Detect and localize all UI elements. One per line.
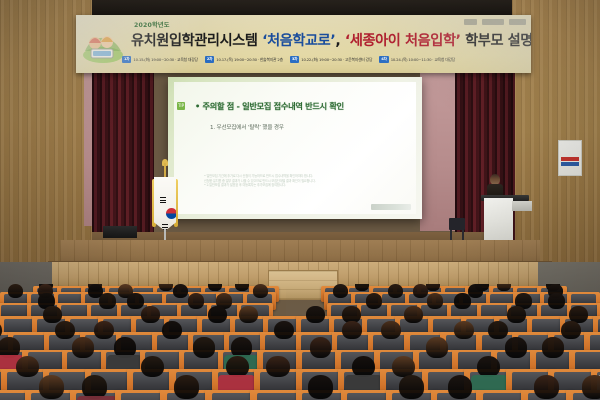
audience-member-head xyxy=(208,284,222,291)
audience-member-head xyxy=(333,284,348,298)
audience-member-head xyxy=(94,321,114,340)
banner-title-segment-1: ‘처음학교로’ xyxy=(262,33,335,49)
banner-title: 유치원입학관리시스템 ‘처음학교로’, ‘세종아이 처음입학’ 학부모 설명회 xyxy=(131,29,531,53)
audience-member-shoulders xyxy=(77,396,117,400)
flag-cloth xyxy=(154,177,176,231)
slide-tip-marker: TIP xyxy=(177,102,185,110)
trigram-2a xyxy=(162,224,168,225)
audience-member-head xyxy=(366,293,383,309)
trigram-1b xyxy=(160,200,166,201)
seat-cushion xyxy=(483,393,524,400)
seat-cushion xyxy=(0,393,27,400)
event-banner: 2020학년도 유치원입학관리시스템 ‘처음학교로’, ‘세종아이 처음입학’ … xyxy=(76,15,531,73)
seat-cushion xyxy=(257,393,298,400)
slide-body-line-2: • 2.일반모집 결과가 발표된 후 미등록자는 추가모집에 참여합니다. xyxy=(204,183,409,188)
audience-member-head xyxy=(381,321,401,340)
audience-member-head xyxy=(306,306,325,323)
banner-title-segment-0: 유치원입학관리시스템 xyxy=(131,33,262,49)
chair-back xyxy=(449,218,465,230)
audience-member-head xyxy=(141,356,164,378)
audience-member-head xyxy=(342,321,362,340)
audience-member-head xyxy=(174,375,199,398)
trigram-2b xyxy=(162,227,168,228)
audience-member-head xyxy=(454,321,474,340)
audience-member-head xyxy=(235,284,249,291)
schedule-text-2: 10.22.(화) 19:00~20:30 · 고운복지센터 강당 xyxy=(301,57,372,63)
schedule-tag-1: 2차 xyxy=(205,56,214,63)
audience-member-head xyxy=(399,375,424,398)
schedule-text-3: 10.24.(목) 10:00~11:30 · 교육청 대강당 xyxy=(391,57,455,63)
stage-floor-monitor xyxy=(103,226,137,238)
audience-member-head xyxy=(208,306,227,323)
audience-member-head xyxy=(468,284,483,298)
schedule-text-1: 10.17.(목) 19:00~20:30 · 한솔복지관 2층 xyxy=(216,57,283,63)
seat-cushion xyxy=(347,393,388,400)
banner-schedule-item-1: 2차10.17.(목) 19:00~20:30 · 한솔복지관 2층 xyxy=(205,56,283,63)
audience-member-head xyxy=(159,284,173,291)
audience-member-head xyxy=(548,293,565,309)
audience-member-head xyxy=(426,284,440,291)
audience-member-head xyxy=(99,293,116,309)
banner-sponsor-logos xyxy=(464,19,526,25)
audience-member-head xyxy=(266,356,289,378)
audience-member-head xyxy=(127,293,144,309)
banner-year-label: 2020학년도 xyxy=(134,20,170,29)
seat-cushion xyxy=(212,393,253,400)
audience-member-head xyxy=(274,321,294,340)
audience-member-head xyxy=(582,375,600,398)
audience-member-head xyxy=(239,306,258,323)
slide-body-text: • 일반모집 기간에 추가로 다시 신청이 가능하므로 반드시 접수내역을 확인… xyxy=(204,174,409,188)
poster-color-bar-blue xyxy=(561,162,579,166)
audience-member-head xyxy=(426,337,448,357)
audience-member-head xyxy=(507,306,526,323)
banner-title-segment-3: ‘세종아이 처음입학’ xyxy=(345,33,461,49)
audience-member-head xyxy=(404,306,423,323)
slide-footer-logo-icon xyxy=(371,204,411,210)
audience-member-head xyxy=(173,284,188,298)
audience-member-head xyxy=(39,375,64,398)
audience-member-head xyxy=(355,284,369,291)
audience-member-head xyxy=(454,293,471,309)
audience-member-head xyxy=(392,356,415,378)
audience-member-head xyxy=(448,375,473,398)
slide-surface: TIP • 주의할 점 - 일반모집 접수내역 반드시 확인 1. 우선모집에서… xyxy=(174,82,416,214)
banner-schedule-item-3: 4차10.24.(목) 10:00~11:30 · 교육청 대강당 xyxy=(379,56,455,63)
lectern-side-shelf xyxy=(512,201,532,211)
audience-member-head xyxy=(8,284,23,298)
trigram-1c xyxy=(160,202,166,203)
audience-member-head xyxy=(188,293,205,309)
banner-mascot-illustration xyxy=(81,21,125,65)
audience-member-head xyxy=(427,293,444,309)
audience-member-head xyxy=(193,337,215,357)
audience-member-head xyxy=(413,284,428,298)
wall-poster xyxy=(558,140,582,176)
audience-seating xyxy=(0,284,600,400)
audience-member-head xyxy=(542,337,564,357)
audience-member-head xyxy=(141,306,160,323)
banner-schedule-item-0: 1차10.15.(화) 19:00~20:30 · 교육청 대강당 xyxy=(122,56,198,63)
taeguk-circle-icon xyxy=(166,208,177,219)
slide-sub-item: 1. 우선모집에서 ‘탈락’ 했을 경우 xyxy=(210,123,410,131)
poster-color-bar-red xyxy=(561,157,579,161)
audience-member-head xyxy=(72,337,94,357)
audience-member-head xyxy=(162,321,182,340)
audience-member-head xyxy=(534,375,559,398)
audience-member-head xyxy=(43,306,62,323)
banner-title-segment-4: 학부모 설명회 xyxy=(461,33,531,49)
audience-member-head xyxy=(16,356,39,378)
schedule-tag-3: 4차 xyxy=(379,56,388,63)
banner-schedule-list: 1차10.15.(화) 19:00~20:30 · 교육청 대강당2차10.17… xyxy=(122,56,522,63)
audience-member-head xyxy=(308,375,333,398)
audience-member-head xyxy=(253,284,268,298)
projection-screen: TIP • 주의할 점 - 일반모집 접수내역 반드시 확인 1. 우선모집에서… xyxy=(168,77,422,219)
sponsor-logo-1-icon xyxy=(464,19,477,25)
audience-member-head xyxy=(310,337,332,357)
schedule-tag-2: 3차 xyxy=(290,56,299,63)
seat-cushion xyxy=(121,393,162,400)
audience-member-head xyxy=(488,321,508,340)
audience-member-head xyxy=(561,321,581,340)
audience-member-head xyxy=(55,321,75,340)
audience-member-head xyxy=(497,284,511,291)
sponsor-logo-2-icon xyxy=(482,19,504,25)
banner-schedule-item-2: 3차10.22.(화) 19:00~20:30 · 고운복지센터 강당 xyxy=(290,56,372,63)
slide-heading: • 주의할 점 - 일반모집 접수내역 반드시 확인 xyxy=(195,100,410,112)
schedule-text-0: 10.15.(화) 19:00~20:30 · 교육청 대강당 xyxy=(133,57,197,63)
sponsor-logo-3-icon xyxy=(509,19,526,25)
schedule-tag-0: 1차 xyxy=(122,56,131,63)
trigram-1a xyxy=(160,197,166,198)
banner-title-segment-2: , xyxy=(335,33,345,49)
taegukgi-korean-national-flag xyxy=(148,163,182,251)
audience-member-head xyxy=(505,337,527,357)
auditorium-photo: 2020학년도 유치원입학관리시스템 ‘처음학교로’, ‘세종아이 처음입학’ … xyxy=(0,0,600,400)
audience-member-head xyxy=(388,284,403,298)
